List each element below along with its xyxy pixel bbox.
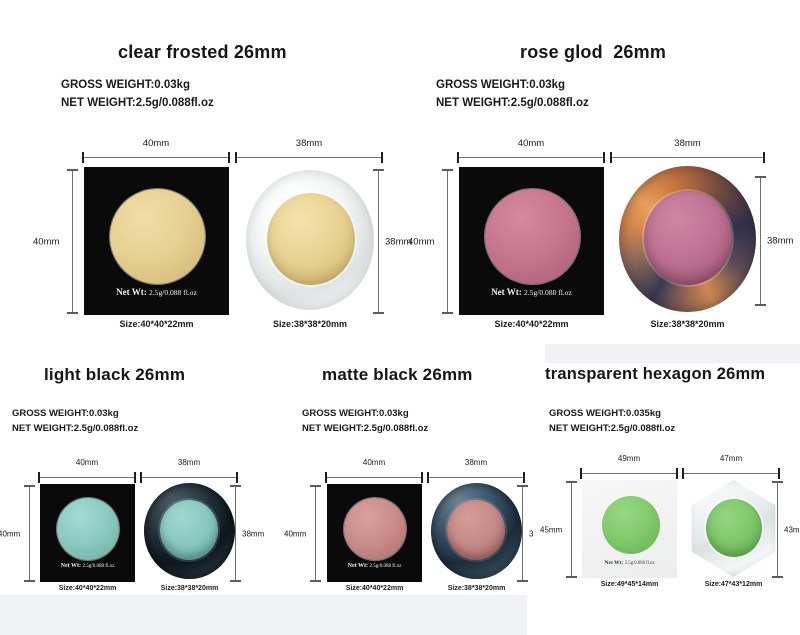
product-panel-transparent-hexagon: transparent hexagon 26mm GROSS WEIGHT:0.… <box>540 360 800 590</box>
jar-powder <box>160 500 218 560</box>
jar-powder <box>706 499 762 557</box>
pan-height-dimension: 40mm <box>24 485 34 582</box>
dim-line <box>315 485 316 582</box>
dim-line <box>325 477 423 478</box>
jar-height-label: 38mm <box>242 529 264 538</box>
dim-line <box>571 481 572 578</box>
pan-height-label: 40mm <box>0 529 20 538</box>
dim-cap-top <box>442 169 453 171</box>
pan-photo-matte-black: Net Wt: 2.5g/0.088 fl.oz <box>327 484 422 582</box>
dim-cap-right <box>603 152 605 163</box>
dim-line <box>457 157 605 158</box>
jar-width-label: 38mm <box>235 138 383 149</box>
gross-weight-text: GROSS WEIGHT:0.03kg <box>302 406 428 421</box>
gross-weight-text: GROSS WEIGHT:0.03kg <box>61 76 214 94</box>
product-title: matte black 26mm <box>322 365 473 385</box>
pan-size-caption: Size:49*45*14mm <box>582 581 677 588</box>
gross-weight-text: GROSS WEIGHT:0.035kg <box>549 406 675 421</box>
jar-width-label: 47mm <box>682 454 780 463</box>
dim-line <box>682 473 780 474</box>
product-panel-rose-glod: rose glod 26mm GROSS WEIGHT:0.03kg NET W… <box>435 36 775 326</box>
dim-cap-left <box>457 152 459 163</box>
dim-line <box>610 157 765 158</box>
dim-cap-right <box>676 468 678 479</box>
powder-pan <box>344 498 406 560</box>
pan-size-caption: Size:40*40*22mm <box>40 585 135 592</box>
pan-width-label: 40mm <box>38 458 136 467</box>
jar-height-label: 38mm <box>767 236 793 247</box>
gross-weight-text: GROSS WEIGHT:0.03kg <box>436 76 589 94</box>
dim-line <box>72 169 73 314</box>
pan-size-caption: Size:40*40*22mm <box>84 319 229 329</box>
powder-pan <box>602 496 660 554</box>
net-weight-stamp: Net Wt: 2.5g/0.088 fl.oz <box>40 563 135 569</box>
pan-height-dimension: 40mm <box>67 169 77 314</box>
netwt-value: 2.5g/0.088 fl.oz <box>524 288 572 297</box>
netwt-value: 2.5g/0.088 fl.oz <box>370 564 402 569</box>
dim-cap-right <box>763 152 765 163</box>
dim-line <box>760 176 761 306</box>
jar-width-dimension: 47mm <box>682 468 780 478</box>
pan-width-label: 40mm <box>325 458 423 467</box>
product-weights: GROSS WEIGHT:0.03kg NET WEIGHT:2.5g/0.08… <box>12 406 138 436</box>
net-weight-stamp: Net Wt: 2.5g/0.088 fl.oz <box>459 287 604 297</box>
dim-cap-left <box>325 472 327 483</box>
jar-size-caption: Size:47*43*12mm <box>686 581 781 588</box>
product-weights: GROSS WEIGHT:0.035kg NET WEIGHT:2.5g/0.0… <box>549 406 675 436</box>
netwt-value: 2.5g/0.088 fl.oz <box>149 288 197 297</box>
dim-cap-top <box>310 485 321 487</box>
dim-cap-top <box>566 481 577 483</box>
net-weight-stamp: Net Wt: 2.5g/0.088 fl.oz <box>84 287 229 297</box>
pan-width-dimension: 49mm <box>580 468 678 478</box>
dim-cap-bottom <box>24 580 35 582</box>
jar-width-dimension: 38mm <box>140 472 238 482</box>
netwt-label: Net Wt: <box>61 563 81 569</box>
dim-cap-right <box>421 472 423 483</box>
jar-width-label: 38mm <box>610 138 765 149</box>
dim-cap-top <box>24 485 35 487</box>
netwt-label: Net Wt: <box>116 287 147 297</box>
jar-height-label: 3 <box>529 529 533 538</box>
jar-photo-clear-frosted <box>240 167 380 315</box>
jar-width-label: 38mm <box>140 458 238 467</box>
net-weight-text: NET WEIGHT:2.5g/0.088fl.oz <box>12 421 138 436</box>
product-panel-light-black: light black 26mm GROSS WEIGHT:0.03kg NET… <box>0 360 265 590</box>
powder-pan <box>485 189 580 284</box>
dim-cap-right <box>381 152 383 163</box>
dim-line <box>427 477 525 478</box>
net-weight-text: NET WEIGHT:2.5g/0.088fl.oz <box>549 421 675 436</box>
pan-height-label: 40mm <box>408 236 434 247</box>
netwt-label: Net Wt: <box>348 563 368 569</box>
jar-height-label: 43mm <box>784 525 800 534</box>
netwt-value: 2.5g/0.088 fl.oz <box>83 564 115 569</box>
dim-cap-left <box>235 152 237 163</box>
jar-powder <box>644 191 732 285</box>
product-panel-matte-black: matte black 26mm GROSS WEIGHT:0.03kg NET… <box>280 360 545 590</box>
pan-width-dimension: 40mm <box>325 472 423 482</box>
dim-line <box>235 157 383 158</box>
dim-cap-left <box>38 472 40 483</box>
powder-pan <box>57 498 119 560</box>
dim-cap-left <box>82 152 84 163</box>
dim-cap-bottom <box>67 312 78 314</box>
dim-cap-bottom <box>566 576 577 578</box>
jar-size-caption: Size:38*38*20mm <box>615 319 760 329</box>
net-weight-stamp: Net Wt: 2.5g/0.088 fl.oz <box>582 560 677 566</box>
net-weight-text: NET WEIGHT:2.5g/0.088fl.oz <box>61 94 214 112</box>
pan-photo-light-black: Net Wt: 2.5g/0.088 fl.oz <box>40 484 135 582</box>
pan-size-caption: Size:40*40*22mm <box>327 585 422 592</box>
pan-width-dimension: 40mm <box>38 472 136 482</box>
jar-width-label: 38mm <box>427 458 525 467</box>
net-weight-text: NET WEIGHT:2.5g/0.088fl.oz <box>436 94 589 112</box>
jar-size-caption: Size:38*38*20mm <box>240 319 380 329</box>
dim-cap-top <box>67 169 78 171</box>
pan-height-label: 45mm <box>540 525 562 534</box>
dim-line <box>82 157 230 158</box>
dim-cap-right <box>134 472 136 483</box>
net-weight-text: NET WEIGHT:2.5g/0.088fl.oz <box>302 421 428 436</box>
pan-photo-rose-glod: Net Wt: 2.5g/0.088 fl.oz <box>459 167 604 315</box>
jar-photo-rose-glod <box>615 164 760 316</box>
net-weight-stamp: Net Wt: 2.5g/0.088 fl.oz <box>327 563 422 569</box>
netwt-label: Net Wt: <box>491 287 522 297</box>
jar-width-dimension: 38mm <box>610 152 765 162</box>
jar-photo-light-black <box>142 482 237 582</box>
product-title: transparent hexagon 26mm <box>545 365 765 384</box>
dim-line <box>140 477 238 478</box>
dim-cap-right <box>228 152 230 163</box>
netwt-label: Net Wt: <box>604 560 623 566</box>
product-catalog-page: clear frosted 26mm GROSS WEIGHT:0.03kg N… <box>0 0 800 635</box>
dim-cap-left <box>682 468 684 479</box>
pan-height-dimension: 45mm <box>566 481 576 578</box>
product-weights: GROSS WEIGHT:0.03kg NET WEIGHT:2.5g/0.08… <box>61 76 214 112</box>
jar-photo-transparent-hexagon <box>686 478 781 580</box>
dim-cap-bottom <box>310 580 321 582</box>
jar-photo-matte-black <box>429 482 524 582</box>
product-title: light black 26mm <box>44 365 185 385</box>
pan-width-label: 40mm <box>457 138 605 149</box>
pan-width-label: 49mm <box>580 454 678 463</box>
jar-powder <box>447 500 505 560</box>
pan-height-label: 40mm <box>284 529 306 538</box>
pan-photo-transparent-hexagon: Net Wt: 2.5g/0.088 fl.oz <box>582 480 677 578</box>
jar-size-caption: Size:38*38*20mm <box>142 585 237 592</box>
pan-height-dimension: 40mm <box>442 169 452 314</box>
dim-line <box>447 169 448 314</box>
pan-width-dimension: 40mm <box>457 152 605 162</box>
dim-cap-bottom <box>442 312 453 314</box>
product-weights: GROSS WEIGHT:0.03kg NET WEIGHT:2.5g/0.08… <box>436 76 589 112</box>
jar-size-caption: Size:38*38*20mm <box>429 585 524 592</box>
powder-pan <box>110 189 205 284</box>
dim-cap-left <box>580 468 582 479</box>
jar-powder <box>267 193 355 285</box>
gross-weight-text: GROSS WEIGHT:0.03kg <box>12 406 138 421</box>
dim-line <box>29 485 30 582</box>
pan-photo-clear-frosted: Net Wt: 2.5g/0.088 fl.oz <box>84 167 229 315</box>
dim-line <box>38 477 136 478</box>
pan-width-label: 40mm <box>82 138 230 149</box>
dim-line <box>580 473 678 474</box>
product-title: rose glod 26mm <box>520 42 666 63</box>
pan-size-caption: Size:40*40*22mm <box>459 319 604 329</box>
product-weights: GROSS WEIGHT:0.03kg NET WEIGHT:2.5g/0.08… <box>302 406 428 436</box>
product-title: clear frosted 26mm <box>118 42 287 63</box>
netwt-value: 2.5g/0.088 fl.oz <box>625 561 655 566</box>
pan-width-dimension: 40mm <box>82 152 230 162</box>
jar-width-dimension: 38mm <box>427 472 525 482</box>
pan-height-dimension: 40mm <box>310 485 320 582</box>
pan-height-label: 40mm <box>33 236 59 247</box>
dim-cap-left <box>610 152 612 163</box>
product-panel-clear-frosted: clear frosted 26mm GROSS WEIGHT:0.03kg N… <box>60 36 390 326</box>
jar-width-dimension: 38mm <box>235 152 383 162</box>
page-bottom-band <box>0 595 527 635</box>
